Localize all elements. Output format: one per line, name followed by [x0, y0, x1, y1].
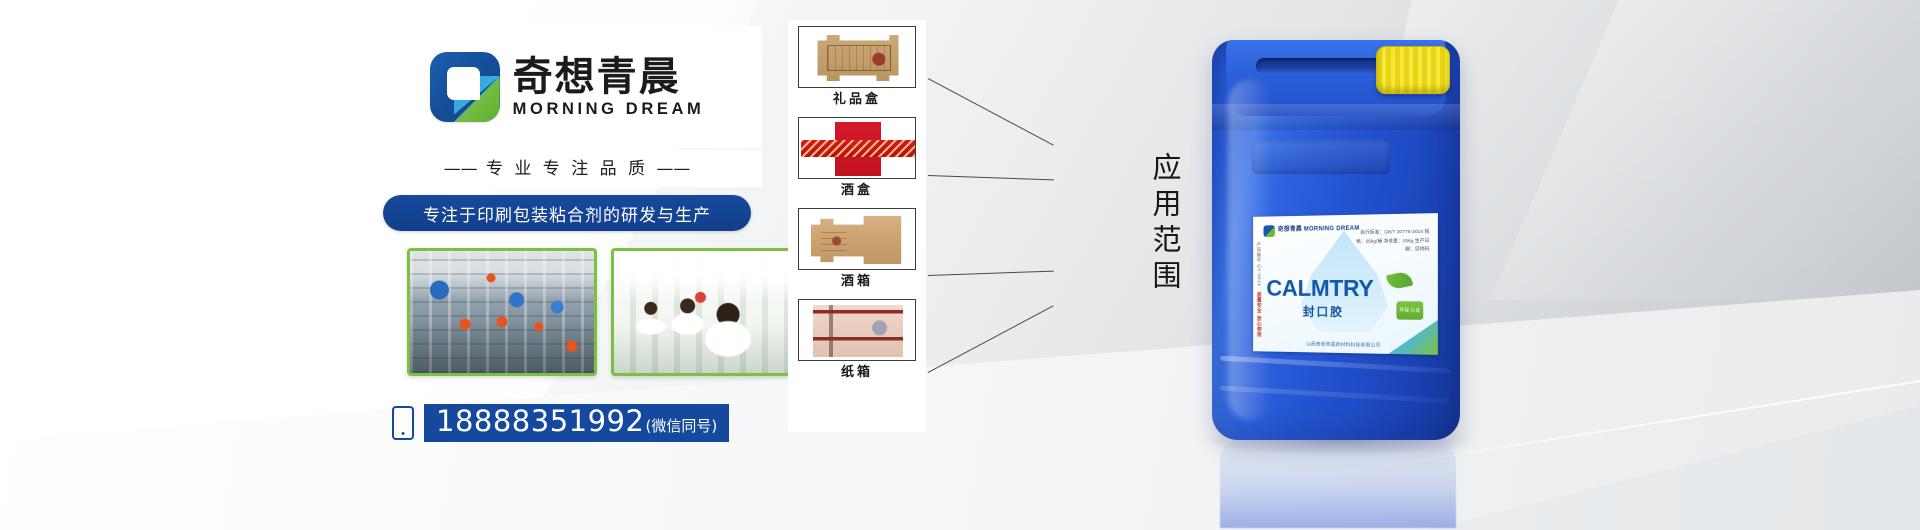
wine-box-diecut-icon: [798, 117, 916, 179]
application-list: 礼品盒 酒盒 酒箱 纸箱: [788, 20, 926, 432]
label-product-name: 封口胶: [1303, 303, 1344, 320]
label-side-red-text: 质量安全 放心使用: [1256, 292, 1263, 338]
phone-number: 18888351992: [436, 406, 644, 438]
label-brand-mark: 奇想青晨 MORNING DREAM: [1264, 224, 1360, 237]
logo-chinese-name: 奇想青晨: [513, 57, 705, 97]
contact-phone-row: 18888351992 (微信同号): [392, 404, 832, 442]
application-scope-label: 应用范围: [1150, 152, 1179, 296]
application-caption: 纸箱: [798, 361, 916, 386]
application-caption: 酒箱: [798, 270, 916, 295]
slogan-pill: 专注于印刷包装粘合剂的研发与生产: [383, 195, 751, 231]
application-item-gift-box: 礼品盒: [798, 26, 916, 113]
product-label: 奇想青晨 MORNING DREAM 执行标准：GB/T 30776-2014 …: [1253, 213, 1438, 355]
label-corner-graphic: [1388, 319, 1438, 354]
slogan-text: 专注于印刷包装粘合剂的研发与生产: [423, 201, 711, 226]
connector-line-4: [928, 305, 1054, 373]
background-facet-top-right: [1490, 0, 1920, 300]
product-reflection: [1220, 436, 1456, 528]
label-brand-text: 奇想青晨 MORNING DREAM: [1278, 226, 1360, 234]
paper-carton-diecut-icon: [798, 299, 916, 361]
label-eco-badge: 环保 认证: [1396, 301, 1423, 320]
tagline-dash-right: ——: [656, 159, 690, 179]
jerrycan-cap: [1376, 46, 1450, 94]
gift-box-diecut-icon: [798, 26, 916, 88]
phone-wechat-note: (微信同号): [645, 415, 717, 436]
brand-tagline: —— 专 业 专 注 品 质 ——: [372, 150, 762, 187]
application-item-wine-carton: 酒箱: [798, 208, 916, 295]
application-caption: 酒盒: [798, 179, 916, 204]
connector-line-1: [928, 78, 1054, 146]
jerrycan-body: 奇想青晨 MORNING DREAM 执行标准：GB/T 30776-2014 …: [1212, 40, 1460, 440]
application-caption: 礼品盒: [798, 88, 916, 113]
application-connector-lines: [926, 20, 1036, 432]
logo-block: 奇想青晨 MORNING DREAM: [372, 26, 762, 148]
tagline-word-1: 专 业: [486, 159, 534, 179]
wine-carton-diecut-icon: [798, 208, 916, 270]
promotional-banner: 奇想青晨 MORNING DREAM —— 专 业 专 注 品 质 —— 专注于…: [0, 0, 1920, 530]
application-item-wine-box: 酒盒: [798, 117, 916, 204]
tagline-word-2: 专 注: [543, 159, 591, 179]
connector-line-2: [928, 175, 1054, 181]
factory-workshop-photo: [407, 248, 597, 376]
laboratory-photo: [611, 248, 801, 376]
phone-number-plate: 18888351992 (微信同号): [424, 404, 729, 442]
mobile-phone-icon: [392, 406, 414, 440]
connector-line-3: [928, 271, 1054, 277]
morning-dream-logo-icon: [430, 52, 500, 122]
label-logo-icon: [1264, 225, 1275, 237]
application-item-paper-carton: 纸箱: [798, 299, 916, 386]
company-photo-gallery: [344, 248, 864, 376]
jerrycan-embossing: [1252, 140, 1390, 174]
label-side-text: 产品编号 QX-0019: [1256, 242, 1262, 286]
product-image-jerrycan: 奇想青晨 MORNING DREAM 执行标准：GB/T 30776-2014 …: [1190, 18, 1520, 530]
logo-english-name: MORNING DREAM: [513, 101, 705, 118]
jerrycan-handle: [1256, 58, 1388, 74]
tagline-word-3: 品 质: [600, 159, 648, 179]
tagline-dash-left: ——: [444, 159, 478, 179]
label-spec-text: 执行标准：GB/T 30776-2014 规格：25kg/桶 净含量：25kg …: [1354, 228, 1430, 255]
